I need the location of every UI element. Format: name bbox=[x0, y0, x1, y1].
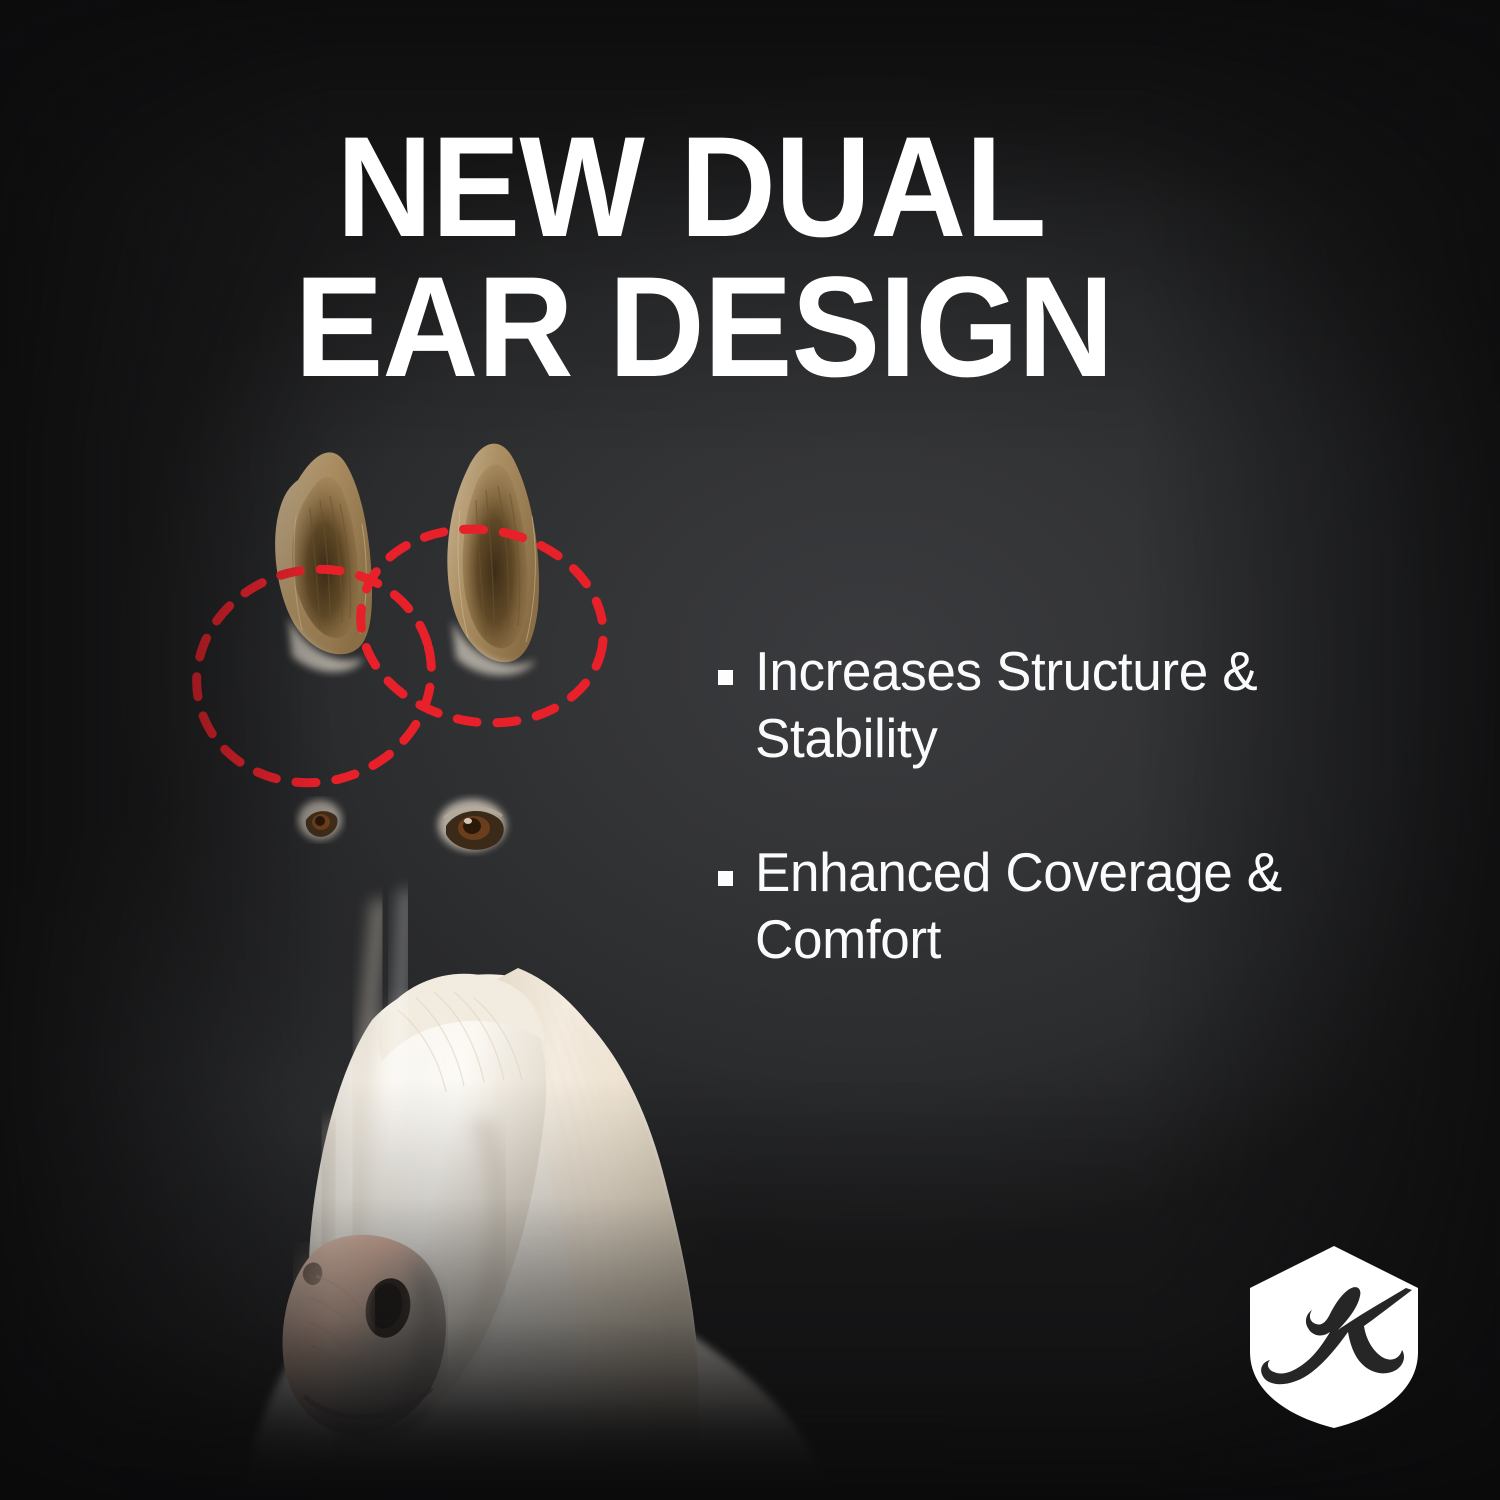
list-item: Enhanced Coverage & Comfort bbox=[718, 839, 1418, 972]
feature-bullet-text: Increases Structure & Stability bbox=[755, 638, 1395, 771]
brand-logo bbox=[1246, 1244, 1422, 1430]
headline-line-1: NEW DUAL bbox=[290, 118, 1360, 258]
feature-bullet-text: Enhanced Coverage & Comfort bbox=[755, 839, 1395, 972]
list-item: Increases Structure & Stability bbox=[718, 638, 1418, 771]
square-bullet-icon bbox=[718, 670, 733, 685]
page-title: NEW DUAL EAR DESIGN bbox=[290, 118, 1360, 398]
square-bullet-icon bbox=[718, 871, 733, 886]
feature-bullet-list: Increases Structure & Stability Enhanced… bbox=[718, 638, 1418, 1040]
product-marketing-image: NEW DUAL EAR DESIGN Increases Structure … bbox=[0, 0, 1500, 1500]
headline-line-2: EAR DESIGN bbox=[290, 258, 1360, 398]
